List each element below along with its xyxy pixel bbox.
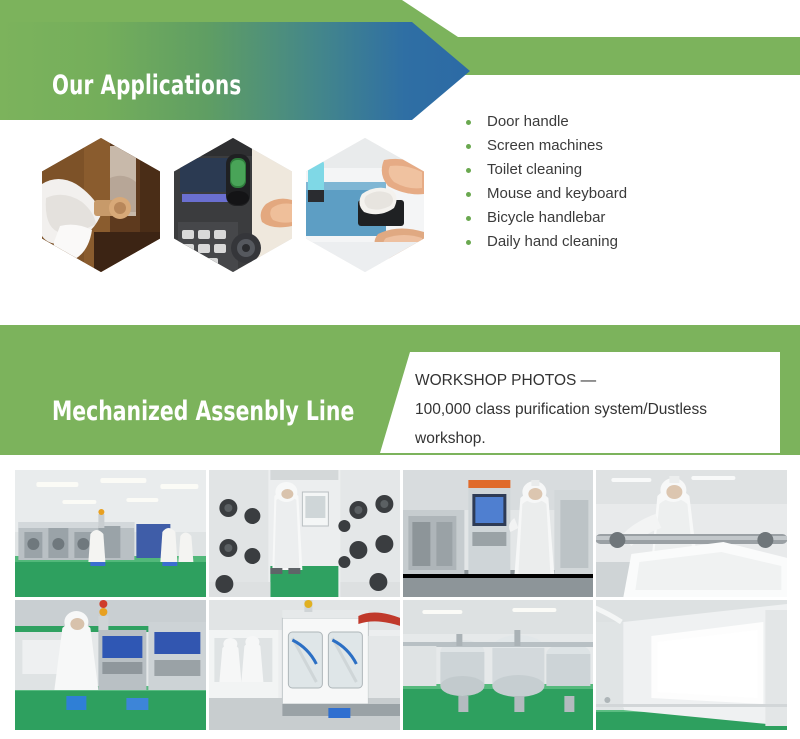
operator-at-control-panel-photo [403, 470, 594, 597]
assembly-line-section: Mechanized Assenbly Line WORKSHOP PHOTOS… [0, 0, 800, 739]
workers-on-packing-line-photo [15, 600, 206, 730]
clean-room-corridor-photo [596, 600, 787, 730]
callout-text: WORKSHOP PHOTOS — 100,000 class purifica… [380, 352, 765, 453]
workshop-photos-callout: WORKSHOP PHOTOS — 100,000 class purifica… [380, 352, 780, 453]
production-line-machinery-photo [15, 470, 206, 597]
worker-handling-fabric-roll-photo [596, 470, 787, 597]
stainless-tanks-workshop-photo [403, 600, 594, 730]
assembly-banner-title: Mechanized Assenbly Line [52, 398, 354, 425]
enclosed-machine-cabinet-photo [209, 600, 400, 730]
callout-line-2: 100,000 class purification system/Dustle… [415, 401, 707, 447]
air-shower-corridor-photo [209, 470, 400, 597]
callout-line-1: WORKSHOP PHOTOS — [415, 372, 596, 389]
workshop-photo-grid [15, 470, 787, 730]
